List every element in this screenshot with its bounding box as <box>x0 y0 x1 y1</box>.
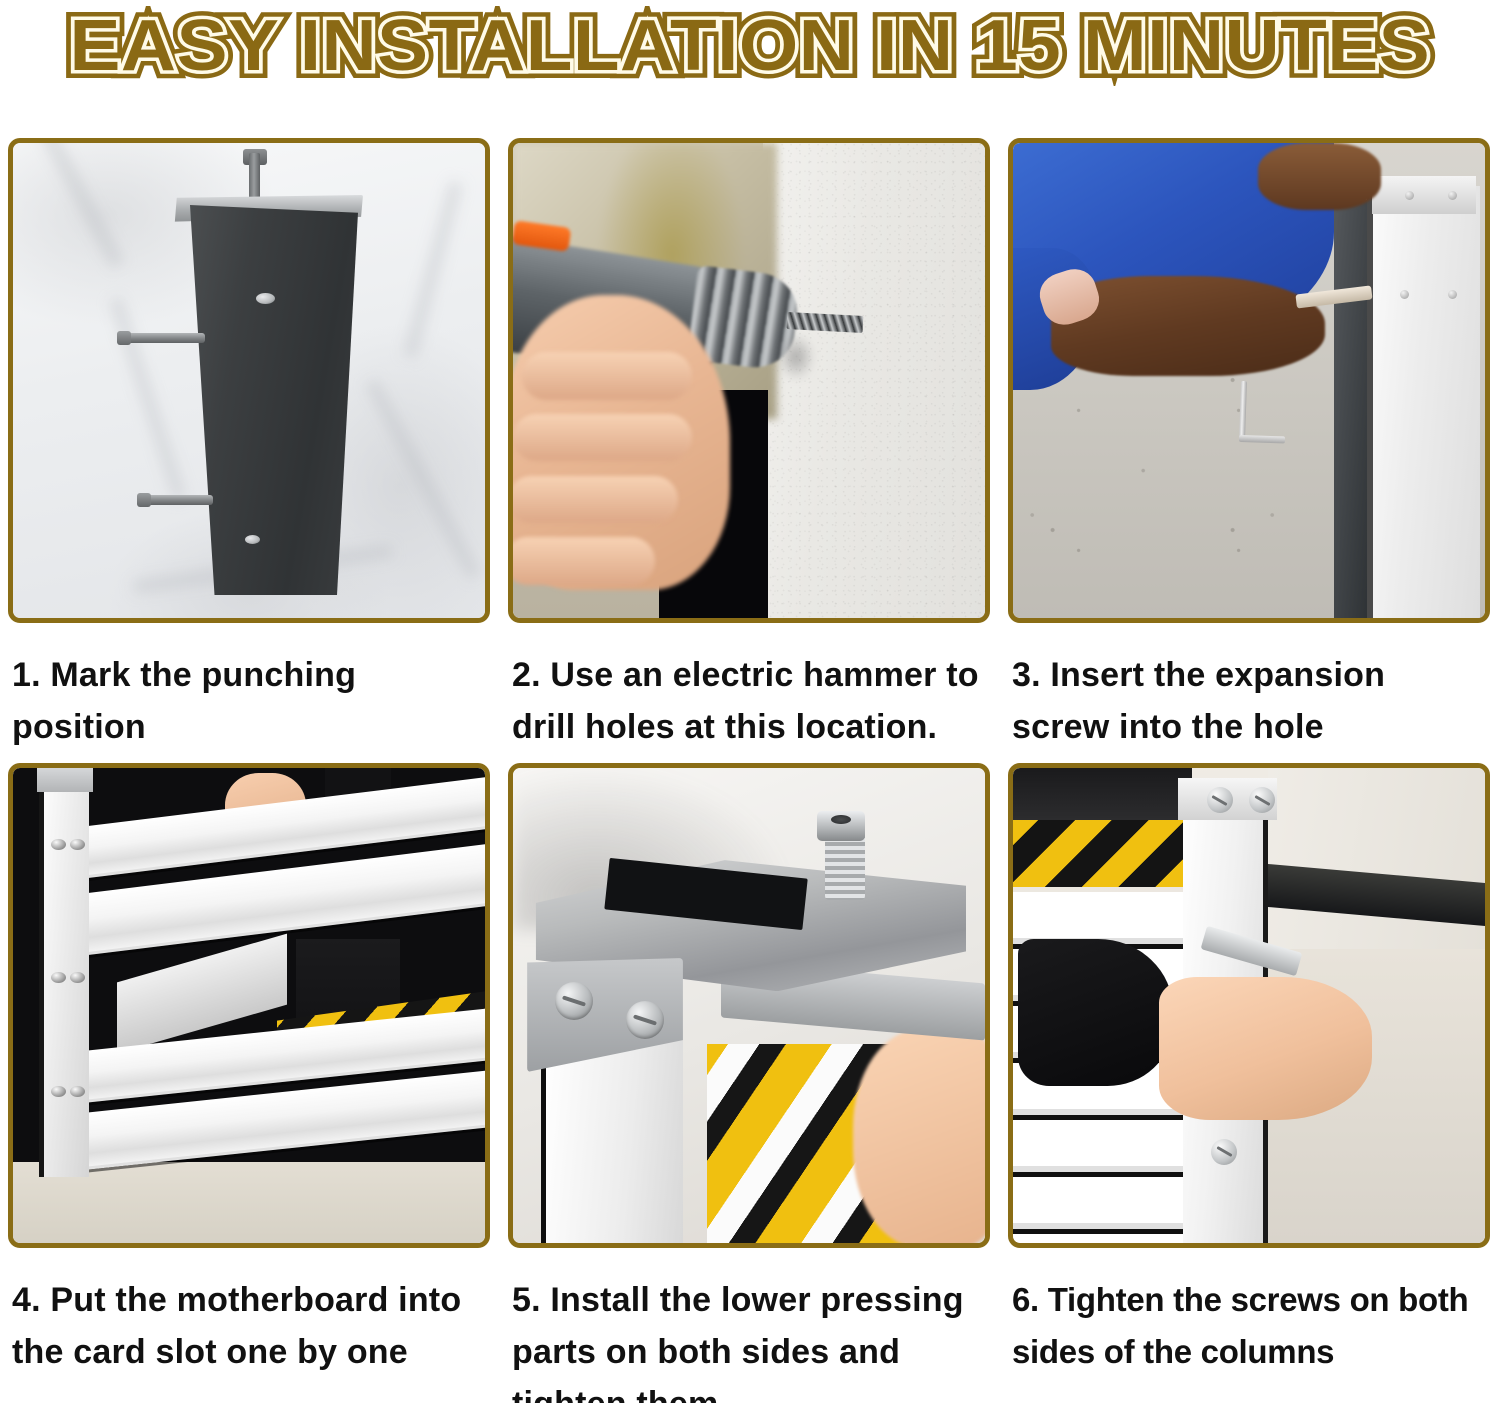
step-image-4 <box>8 763 490 1248</box>
title-wrap: EASY INSTALLATION IN 15 MINUTES EASY INS… <box>108 8 1392 84</box>
step-caption-2: 2. Use an electric hammer to drill holes… <box>508 623 990 753</box>
step-caption-1: 1. Mark the punching position <box>8 623 490 753</box>
step-image-5 <box>508 763 990 1248</box>
step-card-4: 4. Put the motherboard into the card slo… <box>8 763 490 1403</box>
step-card-6: 6. Tighten the screws on both sides of t… <box>1008 763 1490 1403</box>
installation-guide-page: EASY INSTALLATION IN 15 MINUTES EASY INS… <box>0 0 1500 1403</box>
step-caption-6: 6. Tighten the screws on both sides of t… <box>1008 1248 1490 1378</box>
step-card-3: 3. Insert the expansion screw into the h… <box>1008 138 1490 753</box>
step-image-3 <box>1008 138 1490 623</box>
step-card-5: 5. Install the lower pressing parts on b… <box>508 763 990 1403</box>
step-image-6 <box>1008 763 1490 1248</box>
step-image-1 <box>8 138 490 623</box>
step-card-1: 1. Mark the punching position <box>8 138 490 753</box>
steps-row-bottom: 4. Put the motherboard into the card slo… <box>8 763 1492 1403</box>
page-title: EASY INSTALLATION IN 15 MINUTES <box>70 8 1431 84</box>
step-caption-3: 3. Insert the expansion screw into the h… <box>1008 623 1490 753</box>
steps-grid: 1. Mark the punching position <box>8 138 1492 1403</box>
step-card-2: 2. Use an electric hammer to drill holes… <box>508 138 990 753</box>
step-caption-5: 5. Install the lower pressing parts on b… <box>508 1248 990 1403</box>
steps-row-top: 1. Mark the punching position <box>8 138 1492 753</box>
step-image-2 <box>508 138 990 623</box>
title-banner: EASY INSTALLATION IN 15 MINUTES EASY INS… <box>0 0 1500 92</box>
step-caption-4: 4. Put the motherboard into the card slo… <box>8 1248 490 1378</box>
